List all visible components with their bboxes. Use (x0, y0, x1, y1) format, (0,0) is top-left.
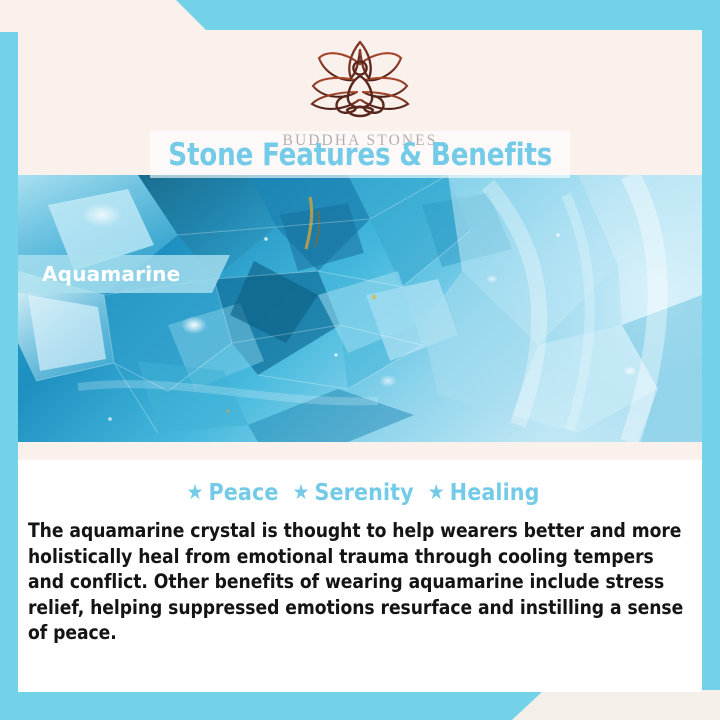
benefit-keywords: ★Peace★Serenity★Healing (18, 480, 702, 506)
lotus-meditation-icon (18, 34, 702, 131)
benefit-keyword-peace: Peace (209, 480, 279, 506)
star-icon: ★ (292, 480, 309, 504)
content-panel: ★Peace★Serenity★Healing The aquamarine c… (18, 460, 702, 692)
frame-band-left (0, 0, 18, 720)
card-sheet: BUDDHA STONES (18, 30, 702, 692)
benefit-keyword-healing: Healing (450, 480, 540, 506)
stone-feature-card: BUDDHA STONES (0, 0, 720, 720)
aquamarine-crystal-photo (18, 175, 702, 442)
star-icon: ★ (186, 480, 203, 504)
page-title-plaque: Stone Features & Benefits (150, 131, 570, 178)
page-title: Stone Features & Benefits (168, 137, 552, 173)
frame-band-right (702, 0, 720, 720)
star-icon: ★ (428, 480, 445, 504)
stone-name-banner: Aquamarine (18, 255, 230, 293)
content-top-spacer (18, 442, 702, 460)
stone-description: The aquamarine crystal is thought to hel… (28, 518, 684, 646)
stone-name-label: Aquamarine (42, 262, 180, 286)
benefit-keyword-serenity: Serenity (315, 480, 414, 506)
